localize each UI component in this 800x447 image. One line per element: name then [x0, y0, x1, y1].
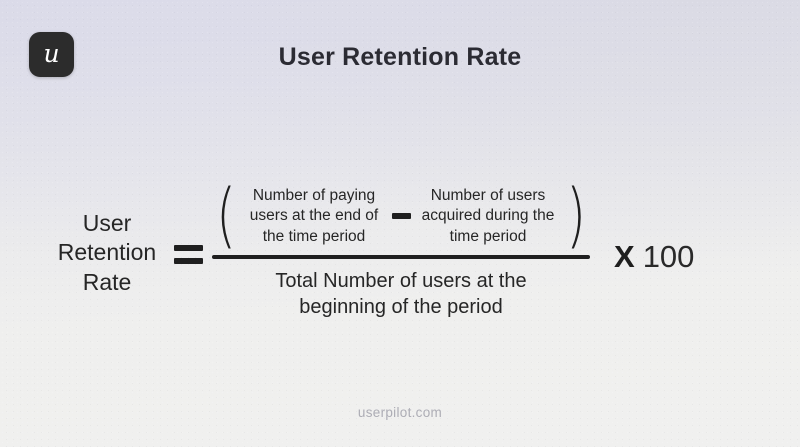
formula-left-label-line-2: Retention [48, 238, 166, 267]
equals-bar-top [174, 245, 203, 251]
formula-left-label-line-1: User [48, 209, 166, 238]
equals-bar-bottom [174, 258, 203, 264]
numerator-term-one: Number of paying users at the end of the… [242, 186, 386, 248]
numerator-term-two: Number of users acquired during the time… [416, 186, 560, 248]
multiplier: X 100 [614, 239, 694, 275]
fraction-denominator: Total Number of users at the beginning o… [210, 259, 592, 320]
equals-sign [166, 243, 210, 264]
formula-left-label: User Retention Rate [48, 209, 166, 297]
multiply-value: 100 [643, 239, 695, 275]
formula-container: User Retention Rate ( Number of paying u… [48, 168, 752, 338]
fraction: ( Number of paying users at the end of t… [210, 186, 592, 321]
numerator-term-one-line-1: Number of paying [242, 186, 386, 207]
fraction-numerator: ( Number of paying users at the end of t… [210, 186, 592, 254]
numerator-term-two-line-2: acquired during the [416, 206, 560, 227]
minus-bar [392, 213, 411, 219]
minus-sign [386, 213, 416, 219]
numerator-term-one-line-3: the time period [242, 227, 386, 248]
formula-left-label-line-3: Rate [48, 268, 166, 297]
numerator-term-one-line-2: users at the end of [242, 206, 386, 227]
multiply-operator: X [614, 239, 635, 275]
denominator-line-1: Total Number of users at the [210, 268, 592, 294]
page-title: User Retention Rate [0, 43, 800, 72]
denominator-line-2: beginning of the period [210, 294, 592, 320]
infographic-canvas: u User Retention Rate User Retention Rat… [0, 0, 800, 447]
numerator-term-two-line-1: Number of users [416, 186, 560, 207]
footer-url: userpilot.com [0, 405, 800, 420]
numerator-term-two-line-3: time period [416, 227, 560, 248]
